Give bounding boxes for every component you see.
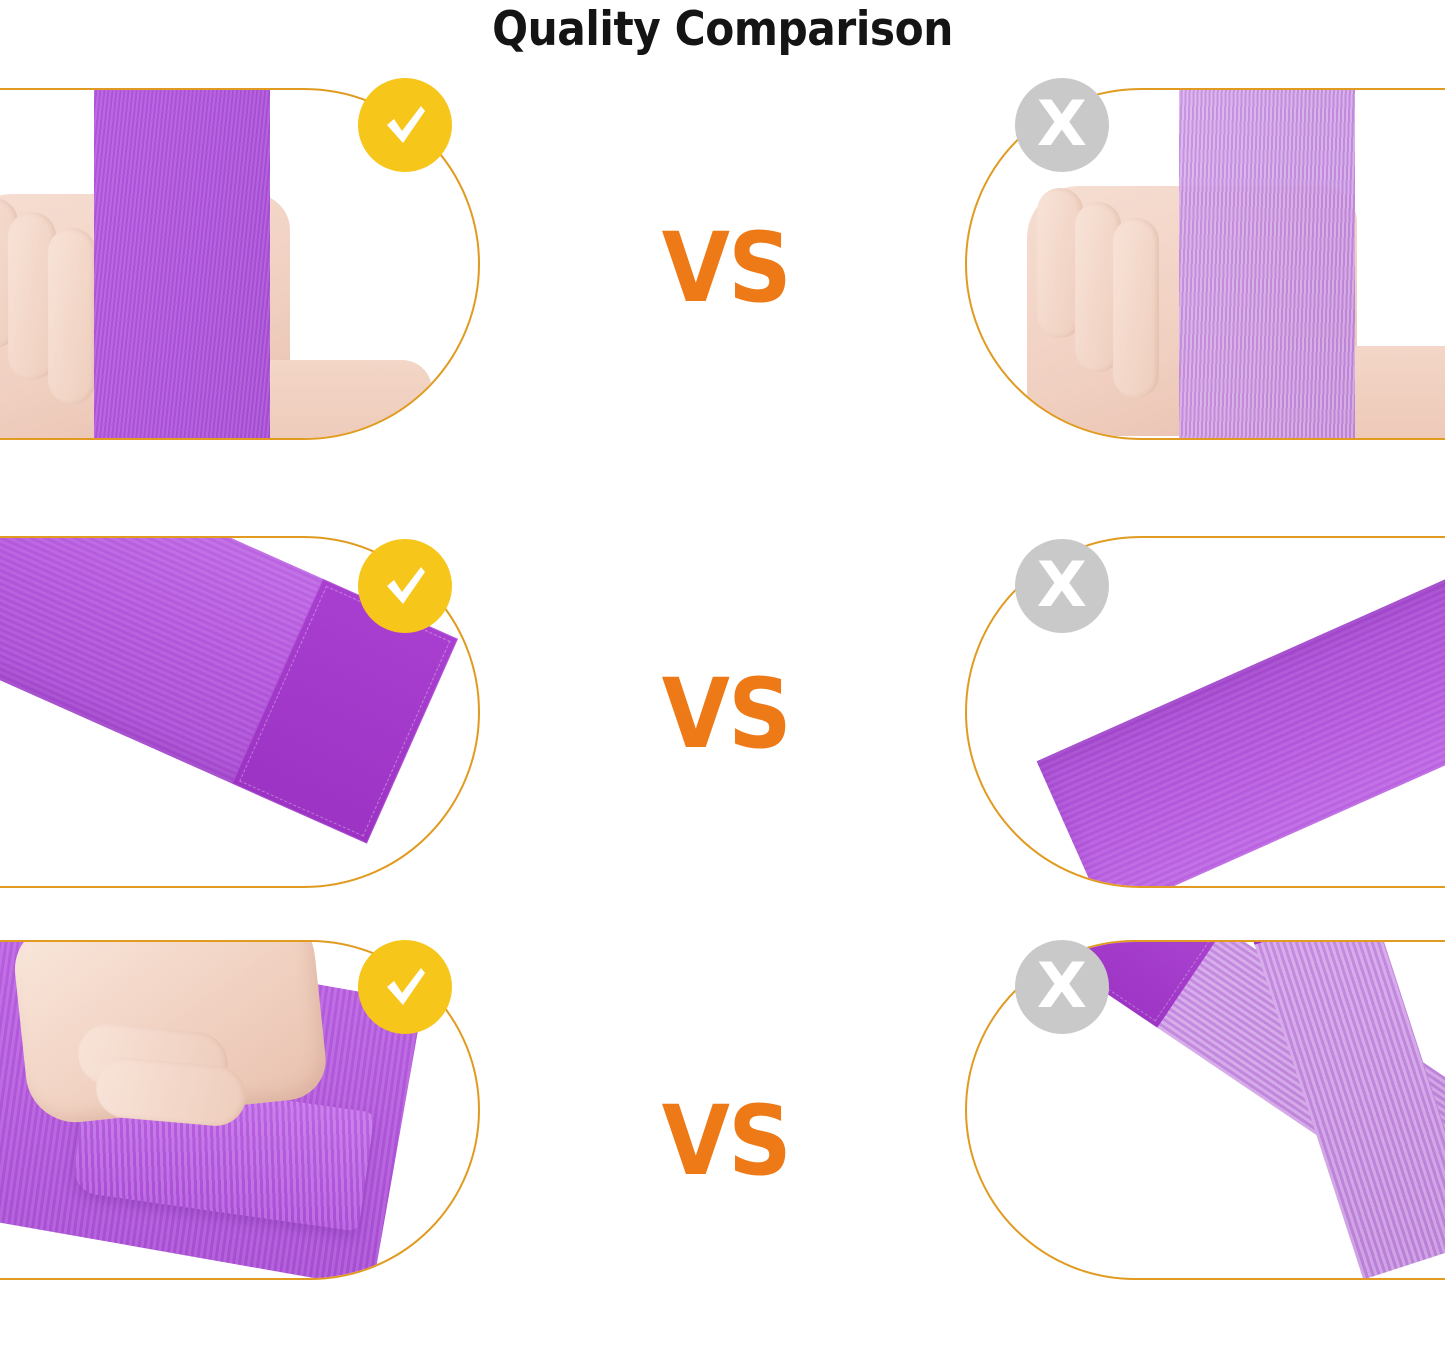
x-icon: X bbox=[1015, 940, 1109, 1034]
finger-shape bbox=[1113, 218, 1159, 398]
band-body bbox=[1218, 942, 1445, 1278]
finger-shape bbox=[48, 228, 96, 404]
vs-label-row-3: VS bbox=[662, 1093, 790, 1189]
resistance-band-thin bbox=[1179, 90, 1355, 438]
x-glyph: X bbox=[1037, 554, 1087, 616]
x-icon: X bbox=[1015, 78, 1109, 172]
resistance-band-thick bbox=[94, 90, 270, 438]
x-glyph: X bbox=[1037, 93, 1087, 155]
quality-comparison-infographic: Quality Comparison bbox=[0, 0, 1445, 1357]
x-glyph: X bbox=[1037, 955, 1087, 1017]
check-icon bbox=[358, 940, 452, 1034]
page-title: Quality Comparison bbox=[72, 2, 1373, 57]
check-icon bbox=[358, 78, 452, 172]
x-icon: X bbox=[1015, 539, 1109, 633]
check-icon bbox=[358, 539, 452, 633]
vs-label-row-1: VS bbox=[662, 220, 790, 316]
vs-label-row-2: VS bbox=[662, 666, 790, 762]
